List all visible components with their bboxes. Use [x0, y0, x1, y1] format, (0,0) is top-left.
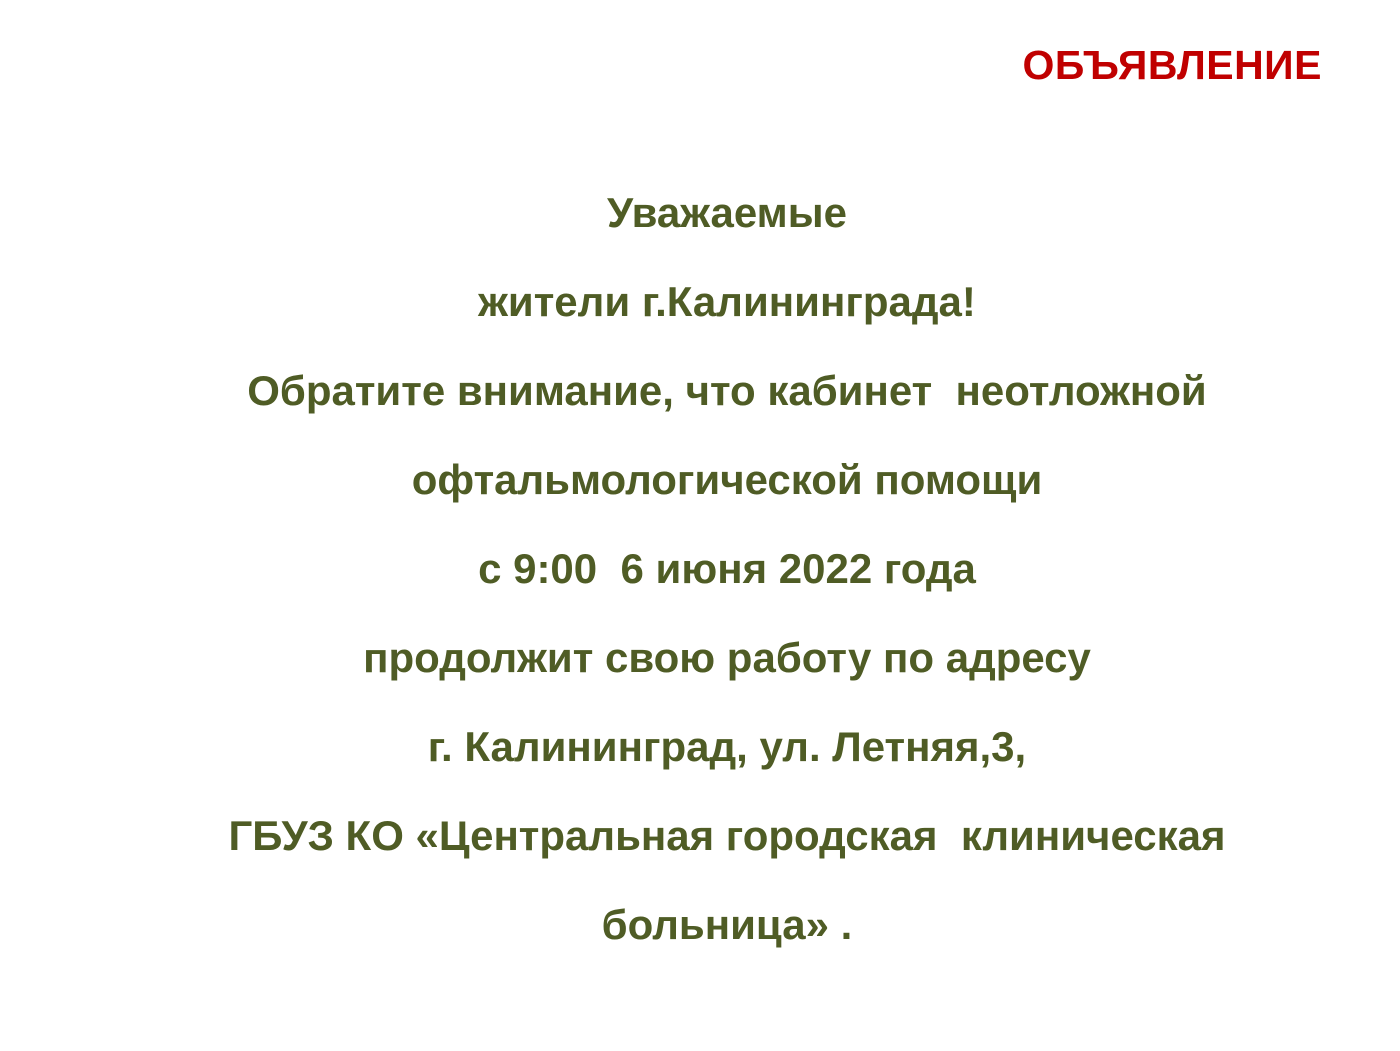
notice-line-address-street: г. Калининград, ул. Летняя,3, [54, 702, 1400, 791]
notice-line-greeting-1: Уважаемые [54, 168, 1400, 257]
notice-line-institution-1: ГБУЗ КО «Центральная городская клиническ… [54, 791, 1400, 880]
page-header: ОБЪЯВЛЕНИЕ [0, 44, 1400, 87]
notice-line-continues: продолжит свою работу по адресу [54, 613, 1400, 702]
page-title: ОБЪЯВЛЕНИЕ [1023, 44, 1323, 87]
notice-line-attention-1: Обратите внимание, что кабинет неотложно… [54, 346, 1400, 435]
notice-line-greeting-2: жители г.Калининграда! [54, 257, 1400, 346]
notice-line-datetime: с 9:00 6 июня 2022 года [54, 524, 1400, 613]
notice-line-institution-2: больница» . [54, 880, 1400, 969]
announcement-page: ОБЪЯВЛЕНИЕ Уважаемые жители г.Калинингра… [0, 0, 1400, 1051]
notice-text-block: Уважаемые жители г.Калининграда! Обратит… [0, 168, 1400, 969]
notice-line-attention-2: офтальмологической помощи [54, 435, 1400, 524]
